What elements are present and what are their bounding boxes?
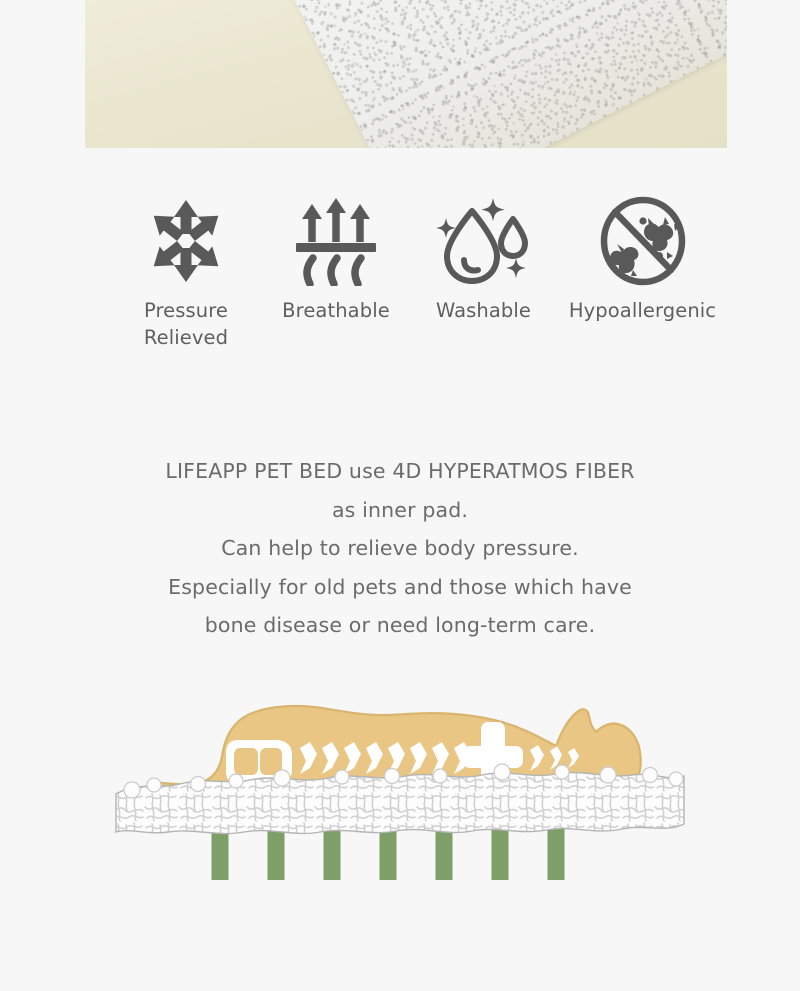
feature-item-washable: Washable (410, 196, 557, 324)
description-line: bone disease or need long-term care. (0, 606, 800, 645)
feature-item-pressure-relieved: Pressure Relieved (110, 196, 262, 351)
feature-item-breathable: Breathable (262, 196, 410, 324)
feature-label: Washable (436, 297, 531, 324)
breathable-airflow-icon (288, 196, 384, 286)
pressure-dispersion-arrows-icon (138, 196, 234, 286)
description-line: Especially for old pets and those which … (0, 568, 800, 607)
product-foam-closeup-photo (85, 0, 727, 148)
product-description: LIFEAPP PET BED use 4D HYPERATMOS FIBER … (0, 452, 800, 645)
description-line: LIFEAPP PET BED use 4D HYPERATMOS FIBER (0, 452, 800, 491)
water-droplet-washable-icon (434, 196, 534, 286)
feature-item-hypoallergenic: Hypoallergenic (557, 196, 728, 324)
description-line: Can help to relieve body pressure. (0, 529, 800, 568)
feature-icon-row: Pressure Relieved (110, 196, 728, 351)
pet-on-fiber-pad-pressure-diagram (110, 672, 690, 912)
no-dust-mite-hypoallergenic-icon (593, 196, 693, 286)
feature-label: Pressure Relieved (144, 297, 228, 351)
description-line: as inner pad. (0, 491, 800, 530)
feature-label: Hypoallergenic (569, 297, 716, 324)
feature-label: Breathable (282, 297, 390, 324)
